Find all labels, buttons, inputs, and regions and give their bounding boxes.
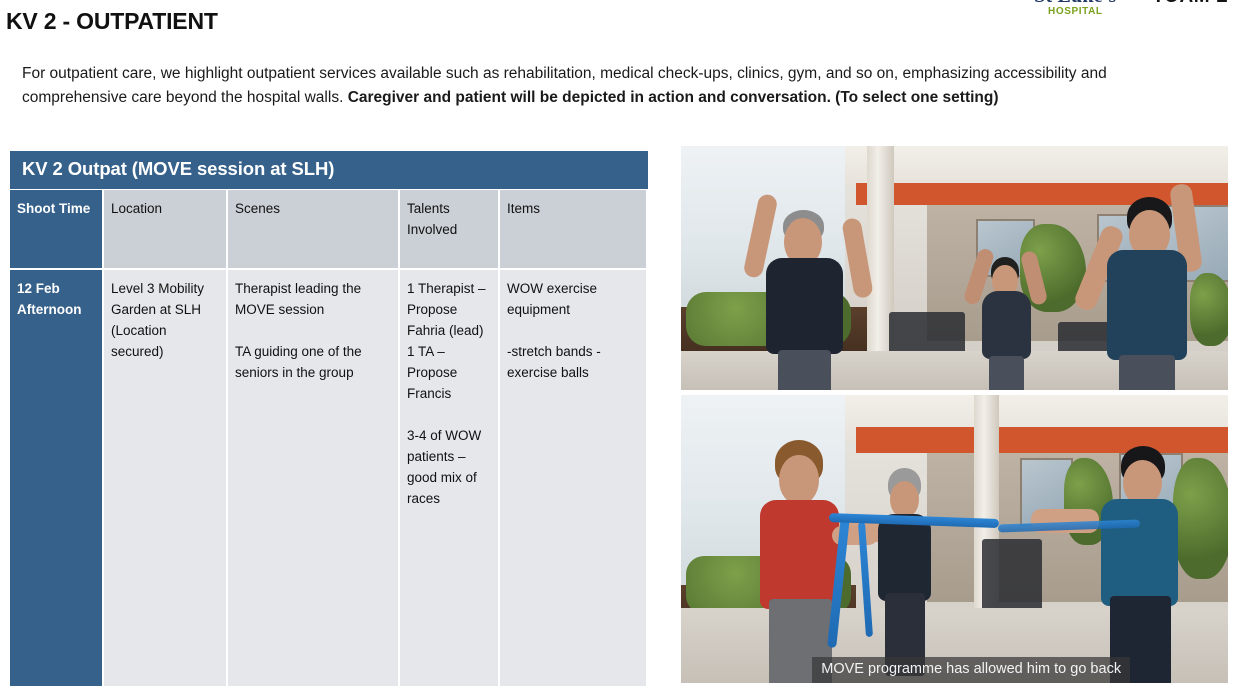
photo-2-scene: MOVE programme has allowed him to go bac… [681,395,1228,683]
legs [989,356,1023,390]
items-line-2: -stretch bands -exercise balls [507,341,640,383]
hospital-subtext: HOSPITAL [1034,7,1116,17]
person-senior-foreground [747,190,867,390]
photo-move-session-stretch-bands: MOVE programme has allowed him to go bac… [681,395,1228,683]
column-header-location: Location [104,190,226,268]
torso-blue-uniform [1107,250,1186,360]
partner-logo: TOAM L [1153,0,1228,6]
intro-paragraph: For outpatient care, we highlight outpat… [22,62,1172,110]
person-therapist-right [1086,175,1206,390]
person-senior-middle [867,464,944,671]
table-row: 12 Feb Afternoon Level 3 Mobility Garden… [10,270,646,686]
schedule-grid: Shoot Time Location Scenes Talents Invol… [8,188,648,688]
video-caption: MOVE programme has allowed him to go bac… [812,657,1130,683]
column-header-talents-involved: Talents Involved [400,190,498,268]
legs [1119,355,1174,390]
intro-bold-text: Caregiver and patient will be depicted i… [348,89,999,106]
legs [778,350,831,390]
page-title: KV 2 - OUTPATIENT [6,8,218,35]
torso [982,291,1030,359]
table-title-bar: KV 2 Outpat (MOVE session at SLH) [10,151,648,189]
column-header-shoot-time: Shoot Time [10,190,102,268]
cell-shoot-time: 12 Feb Afternoon [10,270,102,686]
torso-red-shirt [760,500,839,609]
cell-scenes: Therapist leading the MOVE session TA gu… [228,270,398,686]
person-therapist-right [1086,441,1195,683]
items-line-1: WOW exercise equipment [507,278,640,320]
photo-move-session-arms-raised [681,146,1228,390]
column-header-items: Items [500,190,646,268]
scenes-line-1: Therapist leading the MOVE session [235,278,392,320]
cell-location: Level 3 Mobility Garden at SLH (Location… [104,270,226,686]
head [779,455,818,505]
cell-items: WOW exercise equipment -stretch bands -e… [500,270,646,686]
talents-line-1: 1 Therapist – Propose Fahria (lead) 1 TA… [407,278,492,404]
torso-dark-shirt [766,258,843,354]
person-participant-background [971,248,1042,390]
torso-blue-uniform [1101,499,1178,605]
table-header-row: Shoot Time Location Scenes Talents Invol… [10,190,646,268]
stacked-chairs [982,539,1042,614]
torso-dark-shirt [878,514,932,601]
head [890,481,919,518]
st-lukes-hospital-logo: St Luke's HOSPITAL [1034,0,1116,17]
column-header-scenes: Scenes [228,190,398,268]
logo-strip: St Luke's HOSPITAL TOAM L [1034,0,1228,20]
photo-column: MOVE programme has allowed him to go bac… [681,146,1228,683]
scenes-line-2: TA guiding one of the seniors in the gro… [235,341,392,383]
photo-1-scene [681,146,1228,390]
shoot-schedule-table: KV 2 Outpat (MOVE session at SLH) Shoot … [10,151,648,688]
cell-talents: 1 Therapist – Propose Fahria (lead) 1 TA… [400,270,498,686]
talents-line-2: 3-4 of WOW patients – good mix of races [407,425,492,509]
